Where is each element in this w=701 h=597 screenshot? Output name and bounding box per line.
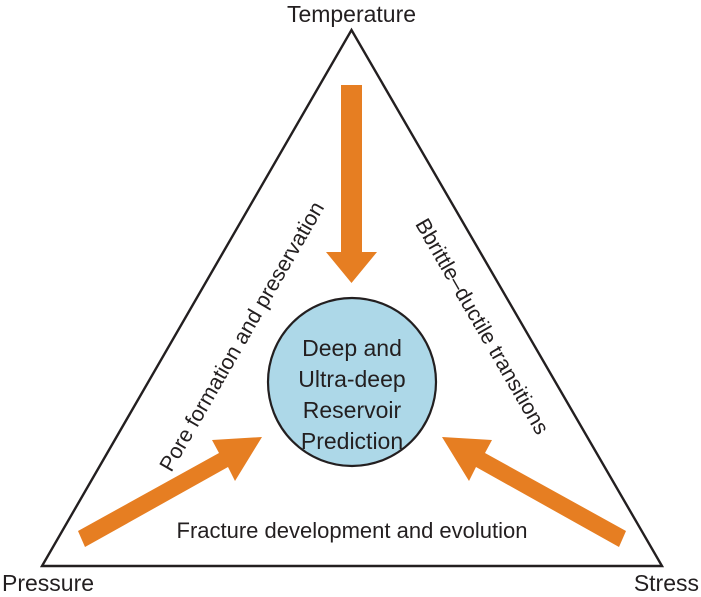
arrow-down-icon — [326, 85, 377, 283]
center-text-line3: Reservoir — [303, 397, 402, 423]
diagram-canvas: Deep and Ultra-deep Reservoir Prediction… — [0, 0, 701, 597]
center-text-line2: Ultra-deep — [298, 366, 405, 392]
center-text-line4: Prediction — [301, 428, 403, 454]
corner-label-pressure: Pressure — [2, 570, 94, 596]
corner-label-stress: Stress — [634, 570, 699, 596]
edge-label-fracture-development: Fracture development and evolution — [177, 518, 528, 543]
ttp-triangle-diagram: Deep and Ultra-deep Reservoir Prediction… — [0, 0, 701, 597]
corner-label-temperature: Temperature — [287, 1, 416, 27]
center-text-line1: Deep and — [302, 335, 402, 361]
